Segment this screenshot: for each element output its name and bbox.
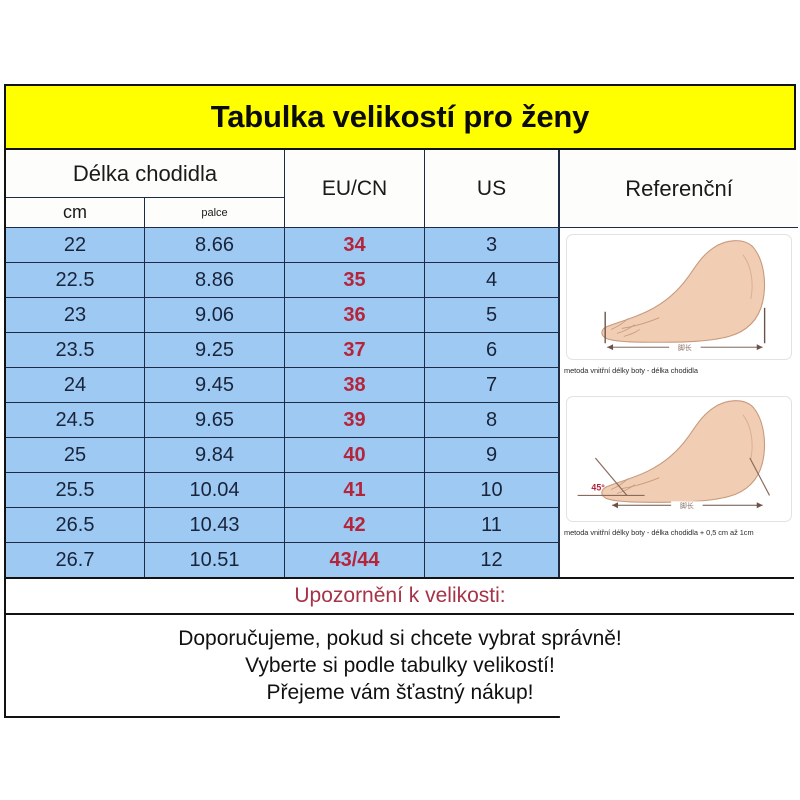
svg-text:脚长: 脚长 bbox=[678, 343, 692, 352]
cell-eu: 37 bbox=[285, 333, 425, 368]
page-title: Tabulka velikostí pro ženy bbox=[211, 99, 589, 135]
header-eu-cn: EU/CN bbox=[285, 150, 425, 228]
header-cm: cm bbox=[6, 198, 145, 228]
foot-diagram-plain: 脚长 bbox=[566, 234, 792, 360]
header-reference: Referenční bbox=[560, 150, 798, 228]
cell-value: 9.45 bbox=[195, 374, 234, 397]
cell-palce: 8.86 bbox=[145, 263, 285, 298]
cell-value: 6 bbox=[486, 339, 497, 362]
cell-eu: 42 bbox=[285, 508, 425, 543]
cell-eu: 40 bbox=[285, 438, 425, 473]
cell-value: 9.06 bbox=[195, 304, 234, 327]
angle-label: 45° bbox=[591, 482, 605, 492]
cell-value: 5 bbox=[486, 304, 497, 327]
cell-value: 4 bbox=[486, 269, 497, 292]
cell-cm: 26.5 bbox=[6, 508, 145, 543]
cell-value: 23.5 bbox=[56, 339, 95, 362]
cell-value: 8.86 bbox=[195, 269, 234, 292]
cell-value: 35 bbox=[343, 269, 365, 292]
cell-value: 12 bbox=[480, 549, 502, 572]
cell-us: 5 bbox=[425, 298, 559, 333]
cell-eu: 38 bbox=[285, 368, 425, 403]
cell-value: 8 bbox=[486, 409, 497, 432]
cell-value: 41 bbox=[343, 479, 365, 502]
cell-cm: 24 bbox=[6, 368, 145, 403]
notice-section: Upozornění k velikosti: Doporučujeme, po… bbox=[6, 577, 794, 716]
cell-us: 8 bbox=[425, 403, 559, 438]
cell-value: 39 bbox=[343, 409, 365, 432]
cell-cm: 22.5 bbox=[6, 263, 145, 298]
cell-value: 26.7 bbox=[56, 549, 95, 572]
cell-palce: 10.04 bbox=[145, 473, 285, 508]
cell-eu: 39 bbox=[285, 403, 425, 438]
notice-body: Doporučujeme, pokud si chcete vybrat spr… bbox=[6, 615, 794, 716]
cell-cm: 25.5 bbox=[6, 473, 145, 508]
cell-value: 22 bbox=[64, 234, 86, 257]
size-chart-page: Tabulka velikostí pro ženy Délka chodidl… bbox=[0, 0, 800, 800]
cell-cm: 24.5 bbox=[6, 403, 145, 438]
cell-value: 24.5 bbox=[56, 409, 95, 432]
cell-us: 6 bbox=[425, 333, 559, 368]
notice-heading: Upozornění k velikosti: bbox=[6, 577, 794, 615]
cell-value: 10.04 bbox=[189, 479, 239, 502]
cell-value: 22.5 bbox=[56, 269, 95, 292]
cell-palce: 9.84 bbox=[145, 438, 285, 473]
cell-us: 9 bbox=[425, 438, 559, 473]
cell-us: 10 bbox=[425, 473, 559, 508]
cell-palce: 8.66 bbox=[145, 228, 285, 263]
svg-text:脚长: 脚长 bbox=[680, 501, 694, 510]
cell-value: 36 bbox=[343, 304, 365, 327]
cell-cm: 26.7 bbox=[6, 543, 145, 578]
cell-us: 7 bbox=[425, 368, 559, 403]
foot-caption-2: metoda vnitřní délky boty - délka chodid… bbox=[564, 528, 800, 537]
cell-value: 11 bbox=[481, 514, 502, 537]
cell-palce: 9.25 bbox=[145, 333, 285, 368]
cell-value: 25.5 bbox=[56, 479, 95, 502]
cell-palce: 9.65 bbox=[145, 403, 285, 438]
chart-title-banner: Tabulka velikostí pro ženy bbox=[6, 86, 794, 150]
cell-value: 42 bbox=[343, 514, 365, 537]
size-chart-frame: Tabulka velikostí pro ženy Délka chodidl… bbox=[4, 84, 796, 718]
foot-diagram-angled: 45° 脚长 bbox=[566, 396, 792, 522]
notice-line: Vyberte si podle tabulky velikostí! bbox=[245, 654, 555, 678]
cell-us: 12 bbox=[425, 543, 559, 578]
cell-value: 9 bbox=[486, 444, 497, 467]
cell-cm: 22 bbox=[6, 228, 145, 263]
cell-eu: 35 bbox=[285, 263, 425, 298]
cell-cm: 23 bbox=[6, 298, 145, 333]
foot-caption-1: metoda vnitřní délky boty - délka chodid… bbox=[564, 366, 800, 375]
cell-value: 25 bbox=[64, 444, 86, 467]
cell-value: 24 bbox=[64, 374, 86, 397]
cell-value: 10.51 bbox=[189, 549, 239, 572]
cell-eu: 34 bbox=[285, 228, 425, 263]
notice-line: Doporučujeme, pokud si chcete vybrat spr… bbox=[178, 627, 622, 651]
cell-value: 7 bbox=[486, 374, 497, 397]
header-us: US bbox=[425, 150, 559, 228]
cell-palce: 10.43 bbox=[145, 508, 285, 543]
cell-eu: 36 bbox=[285, 298, 425, 333]
foot-side-view-icon: 脚长 bbox=[567, 235, 791, 359]
cell-value: 3 bbox=[486, 234, 497, 257]
cell-palce: 9.06 bbox=[145, 298, 285, 333]
cell-palce: 10.51 bbox=[145, 543, 285, 578]
cell-us: 4 bbox=[425, 263, 559, 298]
cell-value: 10 bbox=[480, 479, 502, 502]
cell-value: 9.84 bbox=[195, 444, 234, 467]
notice-line: Přejeme vám šťastný nákup! bbox=[267, 681, 534, 705]
cell-eu: 43/44 bbox=[285, 543, 425, 578]
cell-cm: 25 bbox=[6, 438, 145, 473]
cell-value: 37 bbox=[343, 339, 365, 362]
cell-value: 23 bbox=[64, 304, 86, 327]
cell-value: 43/44 bbox=[329, 549, 379, 572]
cell-us: 3 bbox=[425, 228, 559, 263]
cell-value: 9.25 bbox=[195, 339, 234, 362]
cell-cm: 23.5 bbox=[6, 333, 145, 368]
header-palce: palce bbox=[145, 198, 285, 228]
cell-value: 9.65 bbox=[195, 409, 234, 432]
cell-value: 26.5 bbox=[56, 514, 95, 537]
cell-value: 34 bbox=[343, 234, 365, 257]
foot-side-view-angle-icon: 45° 脚长 bbox=[567, 397, 791, 521]
cell-value: 8.66 bbox=[195, 234, 234, 257]
cell-value: 10.43 bbox=[189, 514, 239, 537]
cell-value: 40 bbox=[343, 444, 365, 467]
header-foot-length: Délka chodidla bbox=[6, 150, 285, 198]
cell-palce: 9.45 bbox=[145, 368, 285, 403]
cell-value: 38 bbox=[343, 374, 365, 397]
cell-eu: 41 bbox=[285, 473, 425, 508]
cell-us: 11 bbox=[425, 508, 559, 543]
